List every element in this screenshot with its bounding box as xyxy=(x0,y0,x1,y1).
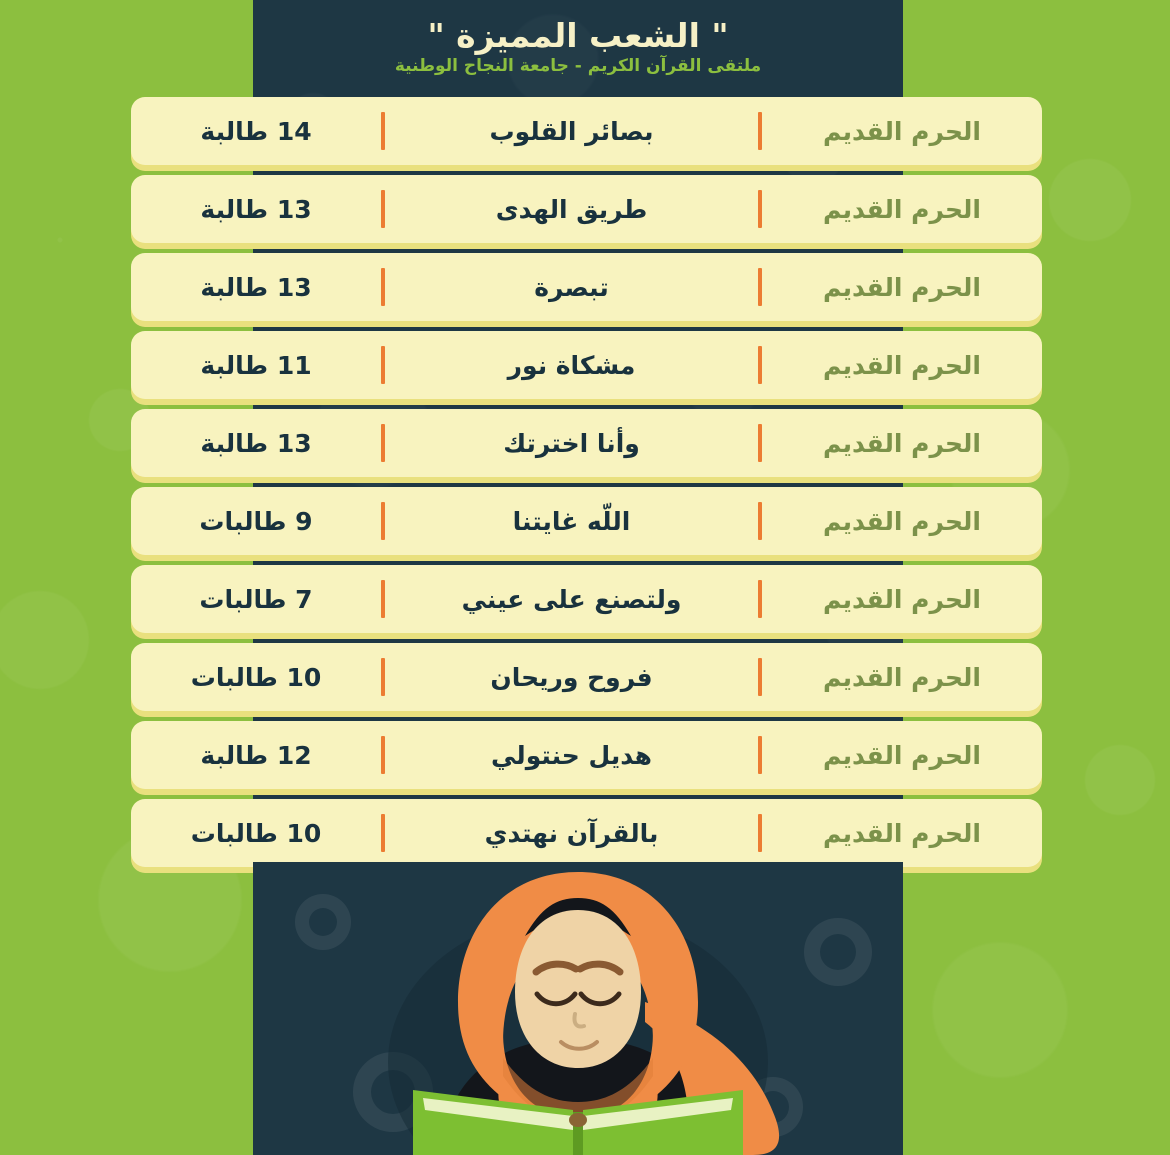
cell-group-name: وأنا اخترتك xyxy=(385,409,758,477)
cell-place: الحرم القديم xyxy=(762,721,1042,789)
cell-student-count: 10 طالبات xyxy=(131,799,381,867)
cell-group-name: مشكاة نور xyxy=(385,331,758,399)
table-row[interactable]: الحرم القديمبصائر القلوب14 طالبة xyxy=(131,97,1042,165)
separator-bar-icon xyxy=(381,580,385,618)
cell-place: الحرم القديم xyxy=(762,331,1042,399)
cell-student-count: 9 طالبات xyxy=(131,487,381,555)
table-row[interactable]: الحرم القديمطريق الهدى13 طالبة xyxy=(131,175,1042,243)
separator-bar-icon xyxy=(758,112,762,150)
separator-bar-icon xyxy=(758,502,762,540)
poster-root: " الشعب المميزة " ملتقى القرآن الكريم - … xyxy=(0,0,1170,1155)
table-row[interactable]: الحرم القديممشكاة نور11 طالبة xyxy=(131,331,1042,399)
table-row[interactable]: الحرم القديموأنا اخترتك13 طالبة xyxy=(131,409,1042,477)
cell-student-count: 7 طالبات xyxy=(131,565,381,633)
cell-student-count: 14 طالبة xyxy=(131,97,381,165)
cell-group-name: تبصرة xyxy=(385,253,758,321)
cell-place: الحرم القديم xyxy=(762,97,1042,165)
cell-place: الحرم القديم xyxy=(762,253,1042,321)
cell-place: الحرم القديم xyxy=(762,799,1042,867)
cell-group-name: هديل حنتولي xyxy=(385,721,758,789)
table-row[interactable]: الحرم القديمهديل حنتولي12 طالبة xyxy=(131,721,1042,789)
poster-header: " الشعب المميزة " ملتقى القرآن الكريم - … xyxy=(253,0,903,95)
cell-place: الحرم القديم xyxy=(762,175,1042,243)
page-title: " الشعب المميزة " xyxy=(427,19,728,54)
separator-bar-icon xyxy=(758,190,762,228)
separator-bar-icon xyxy=(381,814,385,852)
cell-student-count: 11 طالبة xyxy=(131,331,381,399)
cell-group-name: اللّه غايتنا xyxy=(385,487,758,555)
cell-student-count: 13 طالبة xyxy=(131,409,381,477)
reader-illustration xyxy=(253,862,903,1155)
separator-bar-icon xyxy=(381,268,385,306)
halaqat-table: الحرم القديمبصائر القلوب14 طالبةالحرم ال… xyxy=(131,97,1042,877)
cell-student-count: 10 طالبات xyxy=(131,643,381,711)
separator-bar-icon xyxy=(758,424,762,462)
separator-bar-icon xyxy=(758,814,762,852)
separator-bar-icon xyxy=(758,658,762,696)
cell-student-count: 13 طالبة xyxy=(131,175,381,243)
cell-group-name: طريق الهدى xyxy=(385,175,758,243)
cell-place: الحرم القديم xyxy=(762,643,1042,711)
separator-bar-icon xyxy=(381,346,385,384)
cell-student-count: 12 طالبة xyxy=(131,721,381,789)
cell-place: الحرم القديم xyxy=(762,565,1042,633)
table-row[interactable]: الحرم القديمفروح وريحان10 طالبات xyxy=(131,643,1042,711)
separator-bar-icon xyxy=(381,190,385,228)
page-subtitle: ملتقى القرآن الكريم - جامعة النجاح الوطن… xyxy=(395,56,761,76)
separator-bar-icon xyxy=(758,580,762,618)
cell-student-count: 13 طالبة xyxy=(131,253,381,321)
separator-bar-icon xyxy=(381,502,385,540)
table-row[interactable]: الحرم القديمبالقرآن نهتدي10 طالبات xyxy=(131,799,1042,867)
cell-group-name: بصائر القلوب xyxy=(385,97,758,165)
separator-bar-icon xyxy=(381,424,385,462)
cell-group-name: فروح وريحان xyxy=(385,643,758,711)
table-row[interactable]: الحرم القديمولتصنع على عيني7 طالبات xyxy=(131,565,1042,633)
cell-group-name: بالقرآن نهتدي xyxy=(385,799,758,867)
cell-group-name: ولتصنع على عيني xyxy=(385,565,758,633)
table-row[interactable]: الحرم القديماللّه غايتنا9 طالبات xyxy=(131,487,1042,555)
table-row[interactable]: الحرم القديمتبصرة13 طالبة xyxy=(131,253,1042,321)
separator-bar-icon xyxy=(758,736,762,774)
cell-place: الحرم القديم xyxy=(762,487,1042,555)
separator-bar-icon xyxy=(381,658,385,696)
separator-bar-icon xyxy=(381,112,385,150)
separator-bar-icon xyxy=(758,346,762,384)
separator-bar-icon xyxy=(758,268,762,306)
cell-place: الحرم القديم xyxy=(762,409,1042,477)
separator-bar-icon xyxy=(381,736,385,774)
